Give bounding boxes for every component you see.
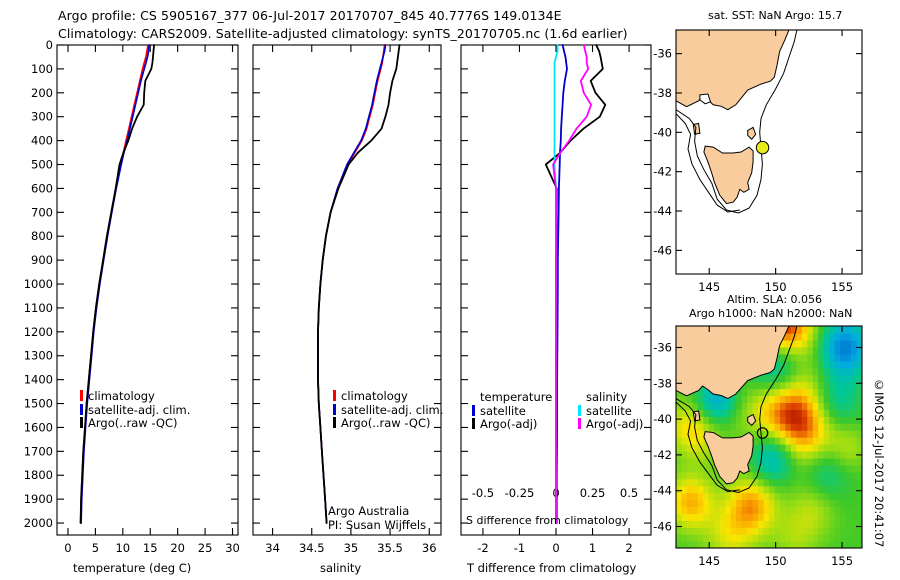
svg-text:150: 150 bbox=[765, 280, 787, 292]
svg-text:-38: -38 bbox=[653, 376, 672, 390]
svg-text:35: 35 bbox=[344, 541, 359, 555]
svg-text:600: 600 bbox=[31, 181, 53, 195]
svg-text:-36: -36 bbox=[653, 340, 672, 354]
svg-text:100: 100 bbox=[31, 62, 53, 76]
difference-bottom-axis-label: T difference from climatology bbox=[467, 561, 636, 575]
svg-text:-38: -38 bbox=[653, 86, 672, 100]
attribution-line2: PI: Susan Wijffels bbox=[328, 518, 426, 532]
svg-text:1100: 1100 bbox=[24, 301, 53, 315]
svg-text:-46: -46 bbox=[653, 243, 672, 257]
map-sst-plot[interactable]: 145150155-36-38-40-42-44-46 bbox=[640, 22, 900, 292]
svg-text:700: 700 bbox=[31, 205, 53, 219]
svg-text:500: 500 bbox=[31, 158, 53, 172]
svg-text:35.5: 35.5 bbox=[377, 541, 403, 555]
legend-header-salinity: salinity bbox=[586, 391, 643, 405]
legend-swatch-temp-argo bbox=[472, 418, 475, 429]
salinity-panel: 3434.53535.536 bbox=[245, 0, 453, 580]
legend-swatch-sal-satellite bbox=[578, 405, 581, 416]
legend-swatch-argo-sal bbox=[333, 417, 336, 428]
temperature-xaxis-label: temperature (deg C) bbox=[73, 561, 191, 575]
svg-text:0: 0 bbox=[64, 541, 71, 555]
legend-item-sal-argo: Argo(-adj) bbox=[578, 418, 643, 432]
svg-text:2: 2 bbox=[625, 541, 632, 555]
svg-text:36: 36 bbox=[422, 541, 437, 555]
svg-text:1400: 1400 bbox=[24, 373, 53, 387]
svg-text:5: 5 bbox=[92, 541, 99, 555]
legend-item-climatology-sal: climatology bbox=[333, 390, 443, 404]
legend-label-satellite-adj-sal: satellite-adj. clim. bbox=[341, 403, 443, 417]
legend-swatch-sal-argo bbox=[578, 418, 581, 429]
map-sst-title: sat. SST: NaN Argo: 15.7 bbox=[708, 9, 842, 22]
svg-text:-40: -40 bbox=[653, 125, 672, 139]
legend-swatch-satellite-adj bbox=[80, 404, 83, 415]
svg-text:-2: -2 bbox=[477, 541, 488, 555]
legend-item-temp-argo: Argo(-adj) bbox=[472, 418, 552, 432]
svg-text:145: 145 bbox=[698, 280, 720, 292]
svg-text:155: 155 bbox=[831, 554, 853, 568]
svg-text:1600: 1600 bbox=[24, 420, 53, 434]
svg-text:300: 300 bbox=[31, 110, 53, 124]
map-sst-panel: 145150155-36-38-40-42-44-46 bbox=[640, 22, 900, 292]
svg-text:-36: -36 bbox=[653, 47, 672, 61]
svg-text:-0.25: -0.25 bbox=[505, 486, 535, 500]
svg-text:1500: 1500 bbox=[24, 397, 53, 411]
legend-item-temp-satellite: satellite bbox=[472, 405, 552, 419]
svg-text:-42: -42 bbox=[653, 448, 672, 462]
difference-legend-temperature: temperature satellite Argo(-adj) bbox=[472, 391, 552, 432]
attribution-line1: Argo Australia bbox=[328, 504, 409, 518]
legend-item-argo: Argo(..raw -QC) bbox=[80, 417, 190, 431]
legend-item-climatology: climatology bbox=[80, 390, 190, 404]
svg-text:34: 34 bbox=[265, 541, 280, 555]
legend-item-satellite-adj-sal: satellite-adj. clim. bbox=[333, 404, 443, 418]
difference-panel: -2-1012-0.5-0.2500.250.5 bbox=[453, 0, 665, 580]
legend-label-temp-argo: Argo(-adj) bbox=[480, 417, 537, 431]
svg-text:200: 200 bbox=[31, 86, 53, 100]
temperature-legend: climatology satellite-adj. clim. Argo(..… bbox=[80, 390, 190, 431]
svg-text:2000: 2000 bbox=[24, 516, 53, 530]
legend-label-sal-argo: Argo(-adj) bbox=[586, 417, 643, 431]
svg-text:-1: -1 bbox=[514, 541, 525, 555]
svg-text:900: 900 bbox=[31, 253, 53, 267]
svg-text:150: 150 bbox=[765, 554, 787, 568]
map-sla-plot[interactable]: 145150155-36-38-40-42-44-46 bbox=[640, 318, 900, 580]
svg-text:-46: -46 bbox=[653, 520, 672, 534]
svg-text:30: 30 bbox=[225, 541, 240, 555]
legend-item-satellite-adj: satellite-adj. clim. bbox=[80, 404, 190, 418]
legend-header-temperature: temperature bbox=[480, 391, 552, 405]
svg-text:25: 25 bbox=[198, 541, 213, 555]
svg-text:800: 800 bbox=[31, 229, 53, 243]
legend-swatch-climatology bbox=[80, 390, 83, 401]
svg-text:-40: -40 bbox=[653, 412, 672, 426]
svg-text:34.5: 34.5 bbox=[299, 541, 325, 555]
svg-text:400: 400 bbox=[31, 134, 53, 148]
svg-text:15: 15 bbox=[143, 541, 158, 555]
legend-label-argo-sal: Argo(..raw -QC) bbox=[341, 416, 431, 430]
svg-text:155: 155 bbox=[831, 280, 853, 292]
svg-text:0.25: 0.25 bbox=[580, 486, 606, 500]
legend-swatch-argo bbox=[80, 417, 83, 428]
svg-text:1200: 1200 bbox=[24, 325, 53, 339]
legend-label-sal-satellite: satellite bbox=[586, 404, 632, 418]
difference-plot[interactable]: -2-1012-0.5-0.2500.250.5 bbox=[453, 0, 665, 580]
svg-text:0: 0 bbox=[552, 541, 559, 555]
legend-label-climatology-sal: climatology bbox=[341, 389, 408, 403]
copyright-label: ©IMOS 12-Jul-2017 20:41:07 bbox=[872, 378, 886, 547]
svg-text:10: 10 bbox=[115, 541, 130, 555]
svg-text:0: 0 bbox=[46, 38, 53, 52]
temperature-panel: 0100200300400500600700800900100011001200… bbox=[0, 0, 245, 580]
salinity-plot[interactable]: 3434.53535.536 bbox=[245, 0, 453, 580]
svg-text:1800: 1800 bbox=[24, 468, 53, 482]
svg-text:-0.5: -0.5 bbox=[472, 486, 494, 500]
svg-text:-44: -44 bbox=[653, 204, 672, 218]
legend-label-temp-satellite: satellite bbox=[480, 404, 526, 418]
svg-text:20: 20 bbox=[170, 541, 185, 555]
legend-item-argo-sal: Argo(..raw -QC) bbox=[333, 417, 443, 431]
legend-swatch-temp-satellite bbox=[472, 405, 475, 416]
legend-item-sal-satellite: satellite bbox=[578, 405, 643, 419]
svg-text:1000: 1000 bbox=[24, 277, 53, 291]
map-sla-title-line1: Altim. SLA: 0.056 bbox=[727, 293, 822, 306]
legend-label-climatology: climatology bbox=[88, 389, 155, 403]
salinity-xaxis-label: salinity bbox=[320, 561, 361, 575]
temperature-plot[interactable]: 0100200300400500600700800900100011001200… bbox=[0, 0, 245, 580]
legend-swatch-climatology-sal bbox=[333, 390, 336, 401]
map-sla-panel: 145150155-36-38-40-42-44-46 bbox=[640, 318, 900, 580]
svg-text:0.5: 0.5 bbox=[620, 486, 638, 500]
svg-text:1: 1 bbox=[589, 541, 596, 555]
legend-swatch-satellite-adj-sal bbox=[333, 404, 336, 415]
svg-text:-42: -42 bbox=[653, 165, 672, 179]
svg-text:1900: 1900 bbox=[24, 492, 53, 506]
svg-text:-44: -44 bbox=[653, 484, 672, 498]
legend-label-argo: Argo(..raw -QC) bbox=[88, 416, 178, 430]
svg-text:1300: 1300 bbox=[24, 349, 53, 363]
salinity-legend: climatology satellite-adj. clim. Argo(..… bbox=[333, 390, 443, 431]
legend-label-satellite-adj: satellite-adj. clim. bbox=[88, 403, 190, 417]
difference-top-axis-label: S difference from climatology bbox=[466, 514, 628, 527]
difference-legend-salinity: salinity satellite Argo(-adj) bbox=[578, 391, 643, 432]
svg-text:145: 145 bbox=[698, 554, 720, 568]
svg-text:1700: 1700 bbox=[24, 444, 53, 458]
